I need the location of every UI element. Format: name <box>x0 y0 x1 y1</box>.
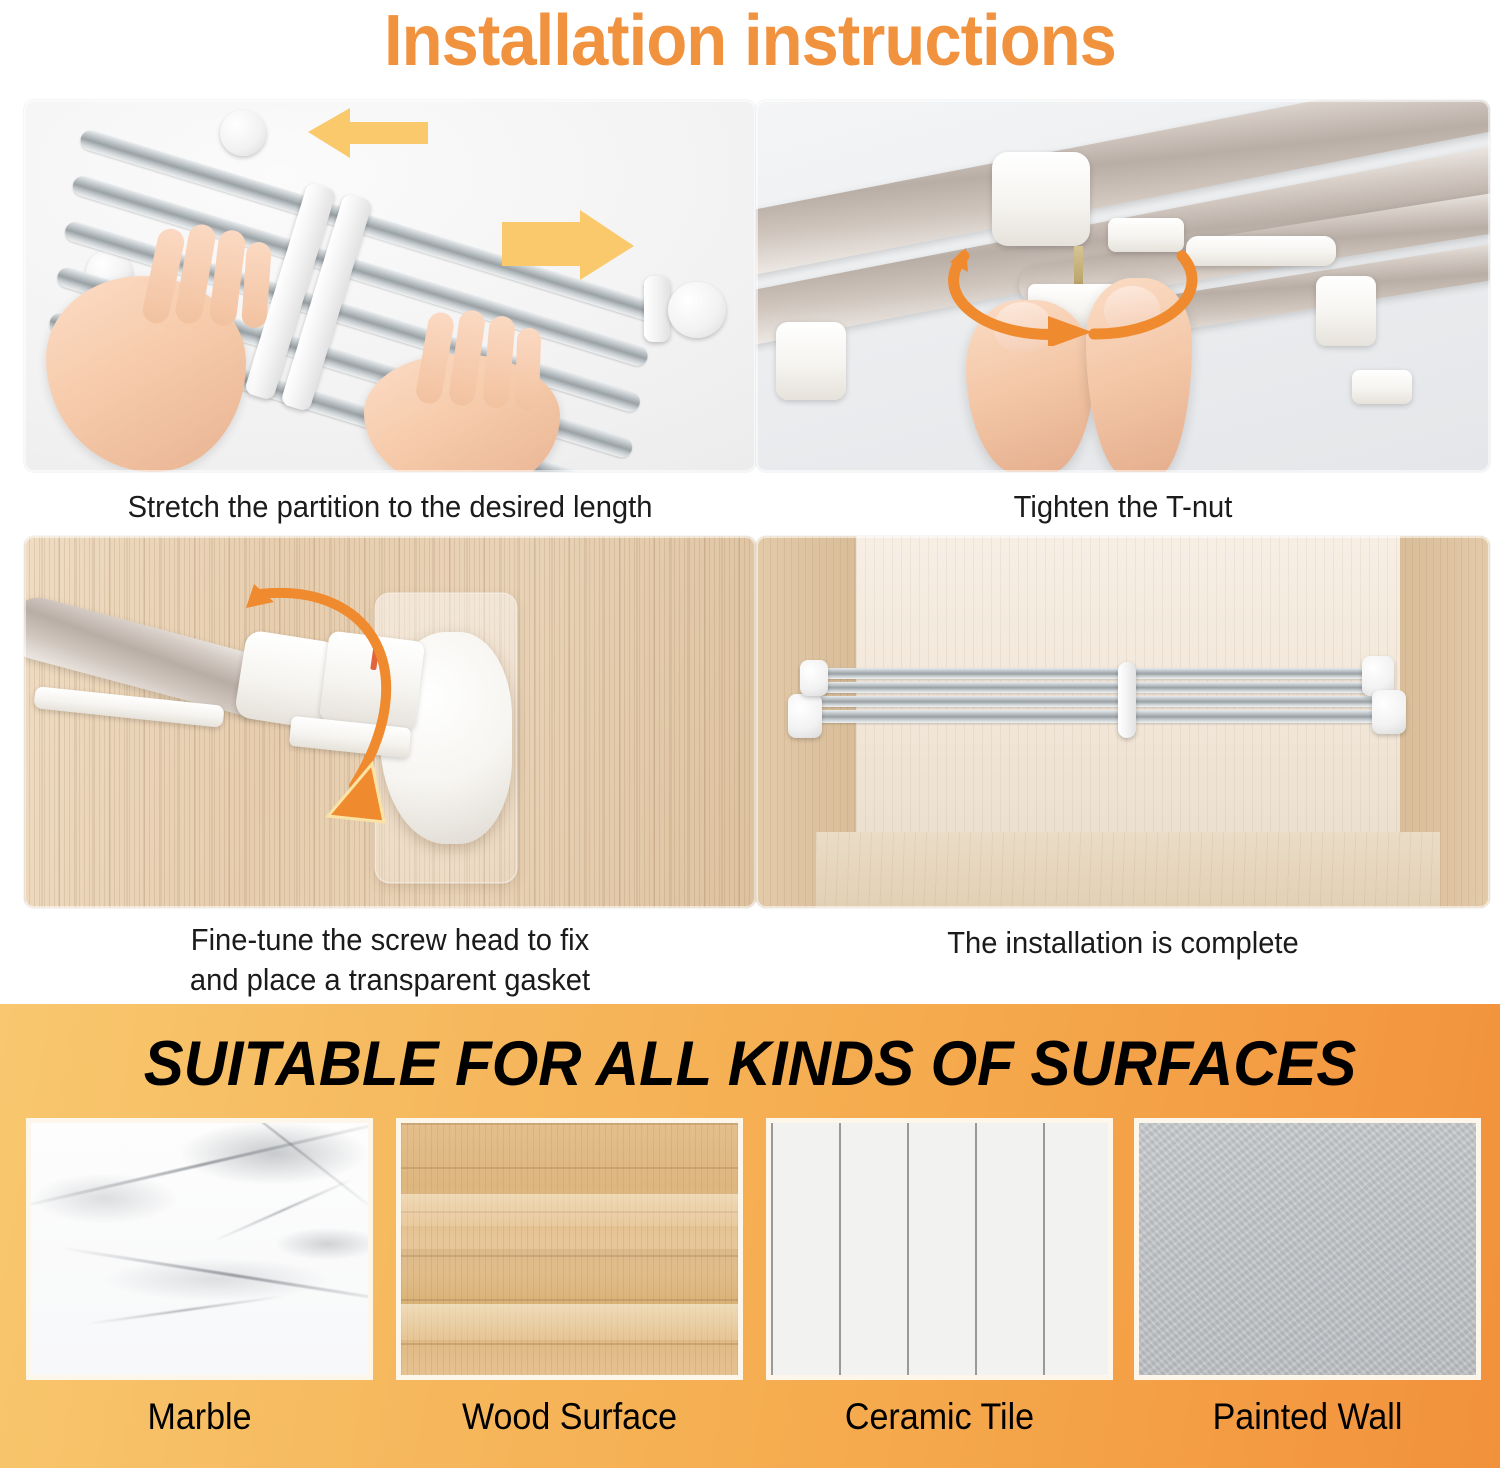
marble-texture <box>31 1123 368 1375</box>
installation-steps: Stretch the partition to the desired len… <box>0 92 1500 992</box>
painted-wall-thumbnail <box>1134 1118 1481 1380</box>
surfaces-heading: SUITABLE FOR ALL KINDS OF SURFACES <box>38 1026 1463 1102</box>
marble-vein <box>86 1295 286 1325</box>
marble-vein <box>190 1118 373 1213</box>
painted-wall-texture <box>1139 1123 1476 1375</box>
shelf-rod <box>822 668 1376 679</box>
rod-end-cap <box>220 110 266 156</box>
screw-collar <box>644 276 670 342</box>
wood-thumbnail <box>396 1118 743 1380</box>
t-nut-right <box>1352 370 1412 404</box>
tile-thumbnail <box>766 1118 1113 1380</box>
step-stretch-photo <box>24 100 756 472</box>
wood-label: Wood Surface <box>410 1390 729 1444</box>
surface-swatch-list: Marble Wood Surface Ceramic Tile <box>0 1118 1500 1468</box>
bracket-foot <box>1316 276 1376 346</box>
tile-texture <box>771 1123 1108 1375</box>
step-complete-caption: The installation is complete <box>778 924 1468 962</box>
expandable-rack-illustration <box>24 100 756 472</box>
caption-line-2: and place a transparent gasket <box>46 960 734 1000</box>
cabinet-floor <box>816 832 1440 908</box>
marble-vein <box>213 1177 355 1242</box>
center-clip <box>1118 662 1136 738</box>
shelf-end-cap <box>800 660 828 696</box>
wood-plank <box>401 1249 738 1274</box>
left-foot <box>776 322 846 400</box>
adjustment-knob <box>668 282 726 338</box>
bracket-arm <box>1186 236 1336 266</box>
rotate-arrow-icon <box>942 246 1206 346</box>
tile-label: Ceramic Tile <box>780 1390 1099 1444</box>
turn-arrow-icon <box>224 564 454 864</box>
shelf-rod <box>818 682 1378 693</box>
surface-swatch-tile: Ceramic Tile <box>766 1118 1113 1444</box>
right-hand-finger <box>515 328 542 411</box>
step-finetune-caption: Fine-tune the screw head to fix and plac… <box>46 920 734 1000</box>
surface-swatch-wood: Wood Surface <box>396 1118 743 1444</box>
painted-wall-label: Painted Wall <box>1148 1390 1467 1444</box>
step-stretch-caption: Stretch the partition to the desired len… <box>46 488 734 526</box>
surfaces-banner: SUITABLE FOR ALL KINDS OF SURFACES Marbl… <box>0 1004 1500 1468</box>
step-complete: The installation is complete <box>756 536 1490 988</box>
stretch-arrow-right-icon <box>500 204 640 296</box>
rod-collar <box>992 152 1090 246</box>
caption-line-1: Fine-tune the screw head to fix <box>46 920 734 960</box>
step-finetune-photo <box>24 536 756 908</box>
step-tighten-caption: Tighten the T-nut <box>778 488 1468 526</box>
step-finetune: Fine-tune the screw head to fix and plac… <box>24 536 756 988</box>
installed-shelf <box>796 664 1396 732</box>
shelf-rod <box>810 710 1382 723</box>
step-tighten: Tighten the T-nut <box>756 100 1490 536</box>
stretch-arrow-left-icon <box>304 106 434 192</box>
page-title: Installation instructions <box>53 0 1448 84</box>
step-complete-photo <box>756 536 1490 908</box>
step-stretch: Stretch the partition to the desired len… <box>24 100 756 536</box>
surface-swatch-marble: Marble <box>26 1118 373 1444</box>
marble-label: Marble <box>40 1390 359 1444</box>
wood-plank <box>401 1194 738 1227</box>
infographic-page: Installation instructions <box>0 0 1500 1468</box>
step-tighten-photo <box>756 100 1490 472</box>
shelf-end-cap <box>1372 690 1406 734</box>
shelf-end-cap <box>788 694 822 738</box>
wood-plank <box>401 1304 738 1339</box>
wood-texture <box>401 1123 738 1375</box>
shelf-rod <box>814 696 1380 707</box>
surface-swatch-paint: Painted Wall <box>1134 1118 1481 1444</box>
marble-thumbnail <box>26 1118 373 1380</box>
